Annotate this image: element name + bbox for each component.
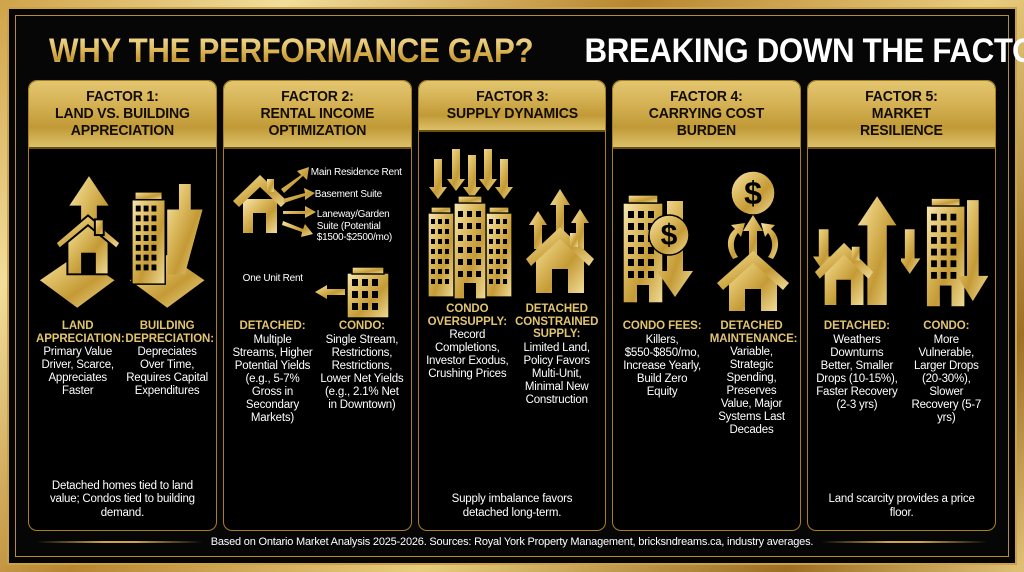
factor-2-column-detached: DETACHED: Multiple Streams, Higher Poten… xyxy=(231,320,314,425)
factor-5-header-line-2: MARKET xyxy=(818,105,986,122)
factor-2-body: Main Residence Rent Basement Suite Lanew… xyxy=(224,149,411,530)
small-down-arrow-icon xyxy=(901,229,920,274)
factor-5-column-condo: CONDO: More Vulnerable, Larger Drops (20… xyxy=(905,320,988,425)
factor-4-column-condo-fees: CONDO FEES: Killers, $550-$850/mo, Incre… xyxy=(620,320,703,437)
factor-1-header-line-2: LAND VS. BUILDING xyxy=(38,105,206,122)
factor-4-compare: CONDO FEES: Killers, $550-$850/mo, Incre… xyxy=(618,320,795,437)
house-multi-stream-icon xyxy=(233,175,287,233)
factor-card-2[interactable]: FACTOR 2: RENTAL INCOME OPTIMIZATION xyxy=(223,80,412,531)
factor-2-col-1-text: Multiple Streams, Higher Potential Yield… xyxy=(231,334,314,425)
factor-5-icon-zone xyxy=(813,155,990,320)
building-down-arrow-icon xyxy=(124,163,210,313)
factor-4-col-1-heading: CONDO FEES: xyxy=(620,320,703,333)
factor-5-header-line-3: RESILIENCE xyxy=(818,122,986,139)
factor-3-compare: CONDO OVERSUPPLY: Record Completions, In… xyxy=(424,303,601,407)
factor-2-label-3: Laneway/Garden Suite (Potential $1500-$2… xyxy=(317,209,412,244)
factor-3-column-condo: CONDO OVERSUPPLY: Record Completions, In… xyxy=(426,303,509,407)
factor-3-col-1-heading: CONDO OVERSUPPLY: xyxy=(426,303,509,328)
factor-1-col-1-heading: LAND APPRECIATION: xyxy=(36,320,119,345)
factor-1-header: FACTOR 1: LAND VS. BUILDING APPRECIATION xyxy=(29,81,216,149)
house-dollar-up-icon: $ xyxy=(711,163,795,313)
factor-2-compare: DETACHED: Multiple Streams, Higher Poten… xyxy=(229,320,406,425)
factor-1-footnote: Detached homes tied to land value; Condo… xyxy=(34,472,211,523)
factor-2-col-1-heading: DETACHED: xyxy=(231,320,314,333)
factor-4-footnote xyxy=(618,512,795,522)
factor-5-col-2-text: More Vulnerable, Larger Drops (20-30%), … xyxy=(905,334,988,425)
factor-4-header-line-1: FACTOR 4: xyxy=(623,88,791,105)
factor-card-1[interactable]: FACTOR 1: LAND VS. BUILDING APPRECIATION xyxy=(28,80,217,531)
house-up-arrows-icon xyxy=(520,141,600,301)
house-dip-recover-icon xyxy=(813,163,896,313)
factor-cards-row: FACTOR 1: LAND VS. BUILDING APPRECIATION xyxy=(28,80,996,531)
factor-1-column-land: LAND APPRECIATION: Primary Value Driver,… xyxy=(36,320,119,398)
factor-5-footnote: Land scarcity provides a price floor. xyxy=(813,485,990,522)
factor-3-footnote: Supply imbalance favors detached long-te… xyxy=(424,485,601,522)
factor-5-col-2-heading: CONDO: xyxy=(905,320,988,333)
factor-card-3[interactable]: FACTOR 3: SUPPLY DYNAMICS xyxy=(418,80,607,531)
factor-3-icon-zone xyxy=(424,138,601,303)
factor-3-col-2-heading: DETACHED CONSTRAINED SUPPLY: xyxy=(515,303,598,341)
factor-2-col-2-text: Single Stream, Restrictions, Restriction… xyxy=(320,334,403,412)
factor-5-col-1-heading: DETACHED: xyxy=(815,320,898,333)
factor-5-compare: DETACHED: Weathers Downturns Better, Sma… xyxy=(813,320,990,425)
factor-5-header: FACTOR 5: MARKET RESILIENCE xyxy=(808,81,995,149)
source-rule-left xyxy=(36,541,203,543)
factor-1-col-2-heading: BUILDING DEPRECIATION: xyxy=(125,320,208,345)
factor-1-col-1-text: Primary Value Driver, Scarce, Appreciate… xyxy=(36,346,119,398)
factor-4-col-2-heading: DETACHED MAINTENANCE: xyxy=(710,320,793,345)
factor-1-col-2-text: Depreciates Over Time, Requires Capital … xyxy=(125,346,208,398)
house-up-arrow-icon xyxy=(34,163,120,313)
building-single-stream-icon xyxy=(347,267,389,318)
factor-3-col-1-text: Record Completions, Investor Exodus, Cru… xyxy=(426,329,509,381)
factor-1-compare: LAND APPRECIATION: Primary Value Driver,… xyxy=(34,320,211,398)
factor-3-header: FACTOR 3: SUPPLY DYNAMICS xyxy=(419,81,606,132)
factor-1-body: LAND APPRECIATION: Primary Value Driver,… xyxy=(29,149,216,530)
factor-3-body: CONDO OVERSUPPLY: Record Completions, In… xyxy=(419,132,606,530)
one-unit-rent-arrow-icon xyxy=(315,285,345,299)
factor-2-header-line-1: FACTOR 2: xyxy=(233,88,401,105)
tower-dollar-down-icon: $ xyxy=(619,163,707,313)
infographic-poster: WHY THE PERFORMANCE GAP? BREAKING DOWN T… xyxy=(0,0,1024,572)
factor-3-col-2-text: Limited Land, Policy Favors Multi-Unit, … xyxy=(515,342,598,407)
factor-2-label-1: Main Residence Rent xyxy=(311,167,411,179)
factor-2-label-4: One Unit Rent xyxy=(231,273,303,285)
factor-5-header-line-1: FACTOR 5: xyxy=(818,88,986,105)
factor-5-column-detached: DETACHED: Weathers Downturns Better, Sma… xyxy=(815,320,898,425)
factor-2-icon-zone: Main Residence Rent Basement Suite Lanew… xyxy=(229,155,406,320)
tower-decline-icon xyxy=(901,163,990,313)
factor-2-footnote xyxy=(229,512,406,522)
factor-4-body: $ $ xyxy=(613,149,800,530)
poster-content: WHY THE PERFORMANCE GAP? BREAKING DOWN T… xyxy=(15,15,1009,557)
factor-1-header-line-1: FACTOR 1: xyxy=(38,88,206,105)
factor-4-header: FACTOR 4: CARRYING COST BURDEN xyxy=(613,81,800,149)
factor-2-header-line-3: OPTIMIZATION xyxy=(233,122,401,139)
down-arrows-group-icon xyxy=(429,149,513,199)
title-gold-part: WHY THE PERFORMANCE GAP? xyxy=(49,32,533,71)
factor-2-column-condo: CONDO: Single Stream, Restrictions, Rest… xyxy=(320,320,403,425)
factor-4-col-2-text: Variable, Strategic Spending, Preserves … xyxy=(710,346,793,437)
factor-4-header-line-3: BURDEN xyxy=(623,122,791,139)
factor-5-body: DETACHED: Weathers Downturns Better, Sma… xyxy=(808,149,995,530)
factor-4-col-1-text: Killers, $550-$850/mo, Increase Yearly, … xyxy=(620,334,703,399)
factor-2-header-line-2: RENTAL INCOME xyxy=(233,105,401,122)
factor-2-header: FACTOR 2: RENTAL INCOME OPTIMIZATION xyxy=(224,81,411,149)
factor-card-5[interactable]: FACTOR 5: MARKET RESILIENCE xyxy=(807,80,996,531)
poster-gold-frame: WHY THE PERFORMANCE GAP? BREAKING DOWN T… xyxy=(7,7,1017,565)
title-white-part: BREAKING DOWN THE FACTORS xyxy=(585,32,1024,71)
three-towers-down-arrows-icon xyxy=(424,141,516,301)
factor-3-header-line-1: FACTOR 3: xyxy=(428,88,596,105)
factor-card-4[interactable]: FACTOR 4: CARRYING COST BURDEN xyxy=(612,80,801,531)
svg-text:$: $ xyxy=(660,219,677,252)
factor-4-header-line-2: CARRYING COST xyxy=(623,105,791,122)
factor-3-column-detached: DETACHED CONSTRAINED SUPPLY: Limited Lan… xyxy=(515,303,598,407)
factor-1-icon-zone xyxy=(34,155,211,320)
factor-4-icon-zone: $ $ xyxy=(618,155,795,320)
source-rule-right xyxy=(821,541,988,543)
factor-4-column-detached-maintenance: DETACHED MAINTENANCE: Variable, Strategi… xyxy=(710,320,793,437)
page-title: WHY THE PERFORMANCE GAP? BREAKING DOWN T… xyxy=(28,26,996,80)
factor-2-col-2-heading: CONDO: xyxy=(320,320,403,333)
factor-5-col-1-text: Weathers Downturns Better, Smaller Drops… xyxy=(815,334,898,412)
svg-text:$: $ xyxy=(744,175,762,211)
source-text: Based on Ontario Market Analysis 2025-20… xyxy=(211,536,814,548)
factor-3-header-line-2: SUPPLY DYNAMICS xyxy=(428,105,596,122)
factor-2-label-2: Basement Suite xyxy=(315,189,411,201)
factor-1-column-building: BUILDING DEPRECIATION: Depreciates Over … xyxy=(125,320,208,398)
source-strip: Based on Ontario Market Analysis 2025-20… xyxy=(28,531,996,550)
factor-1-header-line-3: APPRECIATION xyxy=(38,122,206,139)
